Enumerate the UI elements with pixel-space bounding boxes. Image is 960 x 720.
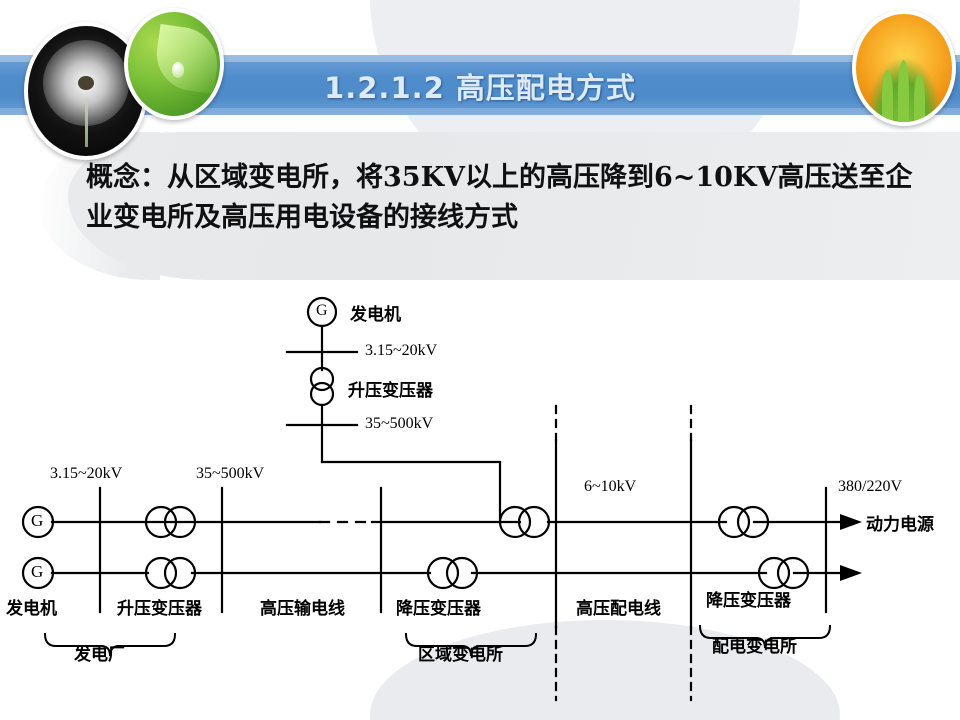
arrow-head-bottom xyxy=(840,565,862,581)
label-generator-branch: 发电机 xyxy=(350,300,401,325)
output-arrows xyxy=(840,514,862,581)
generator-letter-branch: G xyxy=(316,302,328,320)
label-distribution-substation: 配电变电所 xyxy=(712,632,797,657)
label-step-down-transformer-regional: 降压变压器 xyxy=(396,594,481,619)
step-up-transformer-bottom-winding-1 xyxy=(146,558,176,588)
leaf-blade-shape xyxy=(152,24,222,94)
label-regional-substation: 区域变电所 xyxy=(418,640,503,665)
power-distribution-diagram: 发电机 3.15~20kV 升压变压器 35~500kV 3.15~20kV 3… xyxy=(0,282,960,702)
label-hv-distribution-line: 高压配电线 xyxy=(576,594,661,619)
tulip-blade-3 xyxy=(914,74,925,122)
label-power-plant: 发电厂 xyxy=(74,640,125,665)
label-generator-main: 发电机 xyxy=(6,594,57,619)
slide-root: 1.2.1.2 高压配电方式 概念：从区域变电所，将35KV以上的高压降到6~1… xyxy=(0,0,960,720)
label-step-up-transformer-main: 升压变压器 xyxy=(117,594,202,619)
branch-feeder-to-main xyxy=(322,462,500,522)
label-step-up-transformer-branch: 升压变压器 xyxy=(348,376,433,401)
leaf-photo xyxy=(124,8,224,120)
dandelion-stem xyxy=(85,99,88,147)
step-down-transformer-bottom-winding-1 xyxy=(428,558,458,588)
label-voltage-35-500kv-branch: 35~500kV xyxy=(365,415,433,433)
generator-letter-top: G xyxy=(31,511,43,531)
label-voltage-3-15-20kv-main: 3.15~20kV xyxy=(50,465,122,483)
step-up-transformer-branch-winding-2 xyxy=(311,383,333,405)
concept-text: 概念：从区域变电所，将35KV以上的高压降到6~10KV高压送至企业变电所及高压… xyxy=(86,158,926,238)
tulip-blade-1 xyxy=(882,70,893,122)
tulip-blade-2 xyxy=(898,60,909,122)
label-voltage-380-220v: 380/220V xyxy=(838,478,902,496)
generator-letter-bottom: G xyxy=(31,562,43,582)
label-voltage-6-10kv: 6~10kV xyxy=(584,478,636,496)
water-drop-icon xyxy=(172,62,184,78)
step-up-transformer-bottom-winding-2 xyxy=(165,558,195,588)
arrow-head-top xyxy=(840,514,862,530)
label-power-output: 动力电源 xyxy=(866,510,934,535)
label-step-down-transformer-dist: 降压变压器 xyxy=(706,586,791,611)
diagram-svg xyxy=(0,282,960,702)
label-voltage-3-15-20kv-branch: 3.15~20kV xyxy=(365,342,437,360)
label-voltage-35-500kv-main: 35~500kV xyxy=(196,465,264,483)
tulip-photo xyxy=(852,10,956,126)
step-down-transformer-top-winding-2 xyxy=(519,507,549,537)
label-hv-transmission-line: 高压输电线 xyxy=(260,594,345,619)
